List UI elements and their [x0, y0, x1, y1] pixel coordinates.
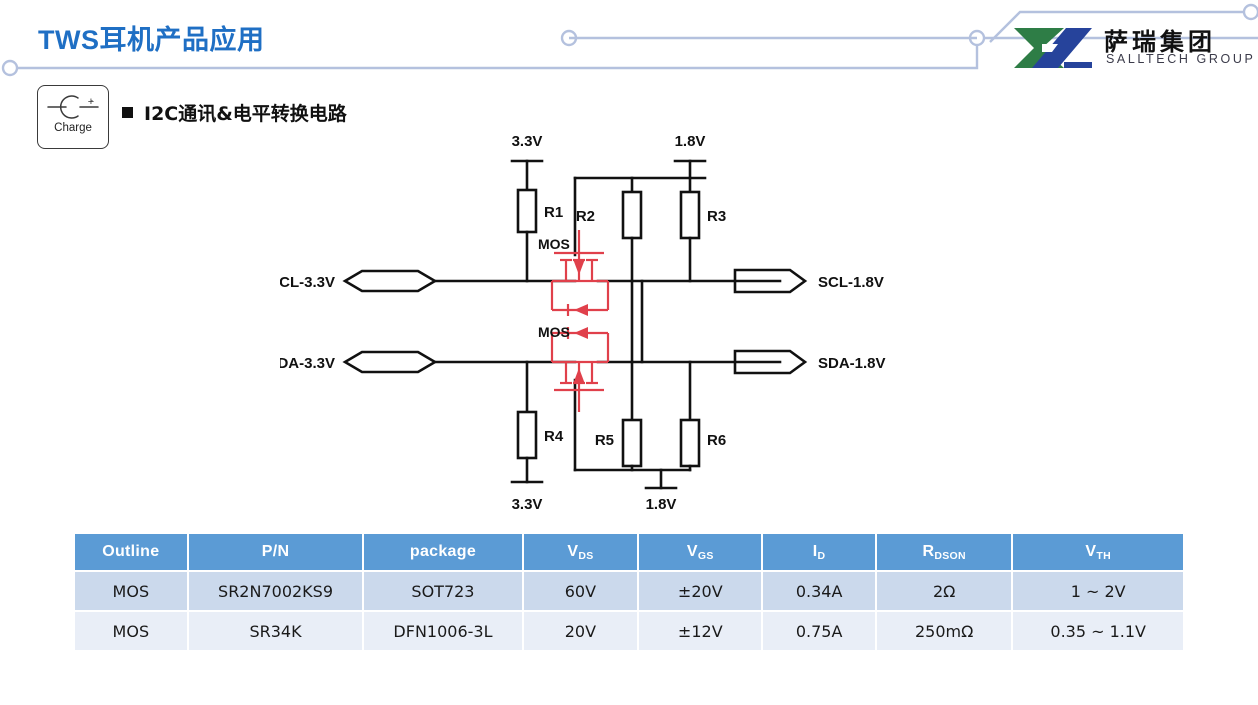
resistor-r4 [518, 412, 536, 458]
cell-id: 0.34A [763, 572, 875, 610]
label-mos-scl: MOS [538, 236, 570, 252]
label-mos-sda: MOS [538, 324, 570, 340]
slide-root: TWS耳机产品应用 萨瑞集团 SALLTECH GROUP + Charge I… [0, 0, 1258, 705]
label-rail-bottom-right: 1.8V [646, 496, 677, 513]
spec-table: Outline P/N package VDS VGS ID RDSON VTH… [73, 532, 1185, 652]
label-r4: R4 [544, 428, 564, 445]
col-header-vds: VDS [524, 534, 638, 570]
col-header-vgs-sub: GS [698, 550, 714, 562]
salltech-logo-icon [1008, 26, 1096, 70]
col-header-vth: VTH [1013, 534, 1183, 570]
col-header-vth-label: V [1085, 543, 1096, 560]
cell-pn: SR2N7002KS9 [189, 572, 363, 610]
cell-package: SOT723 [364, 572, 521, 610]
circuit-diagram: 3.3V 1.8V 3.3V 1.8V R1 R2 R3 R4 R5 R6 MO… [280, 130, 920, 520]
label-r3: R3 [707, 208, 726, 225]
col-header-id-sub: D [818, 550, 826, 562]
tag-scl-3v3 [345, 271, 435, 291]
col-header-outline-label: Outline [102, 543, 159, 560]
square-bullet-icon [122, 107, 133, 118]
table-header-row: Outline P/N package VDS VGS ID RDSON VTH [75, 534, 1183, 570]
label-rail-top-right: 1.8V [675, 133, 706, 150]
label-rail-top-left: 3.3V [512, 133, 543, 150]
col-header-vgs: VGS [639, 534, 761, 570]
label-sda-1v8: SDA-1.8V [818, 355, 886, 372]
cell-vgs: ±12V [639, 612, 761, 650]
deco-circle-left [3, 61, 17, 75]
brand-logo: 萨瑞集团 SALLTECH GROUP [1008, 24, 1246, 72]
cell-package: DFN1006-3L [364, 612, 521, 650]
page-title: TWS耳机产品应用 [38, 18, 265, 57]
cell-vth: 1 ~ 2V [1013, 572, 1183, 610]
col-header-id-label: I [813, 543, 818, 560]
col-header-vds-label: V [567, 543, 578, 560]
mosfet-scl-arrows [573, 259, 588, 316]
col-header-pn: P/N [189, 534, 363, 570]
col-header-outline: Outline [75, 534, 187, 570]
cell-id: 0.75A [763, 612, 875, 650]
label-scl-1v8: SCL-1.8V [818, 274, 884, 291]
col-header-vds-sub: DS [578, 550, 593, 562]
label-r1: R1 [544, 204, 563, 221]
resistor-r2 [623, 192, 641, 238]
resistor-r1 [518, 190, 536, 232]
charge-badge-caption: Charge [38, 122, 108, 134]
col-header-id: ID [763, 534, 875, 570]
resistor-r6 [681, 420, 699, 466]
battery-charge-icon: + [42, 92, 104, 122]
charge-badge: + Charge [37, 85, 109, 149]
cell-outline: MOS [75, 612, 187, 650]
label-sda-3v3: SDA-3.3V [280, 355, 335, 372]
resistor-r5 [623, 420, 641, 466]
label-r6: R6 [707, 432, 726, 449]
cell-pn: SR34K [189, 612, 363, 650]
logo-english-name: SALLTECH GROUP [1106, 52, 1255, 66]
col-header-rdson-label: R [922, 543, 934, 560]
label-r2: R2 [576, 208, 595, 225]
table-row: MOS SR34K DFN1006-3L 20V ±12V 0.75A 250m… [75, 612, 1183, 650]
col-header-vth-sub: TH [1096, 550, 1111, 562]
col-header-vgs-label: V [687, 543, 698, 560]
cell-vth: 0.35 ~ 1.1V [1013, 612, 1183, 650]
col-header-package: package [364, 534, 521, 570]
section-title: I2C通讯&电平转换电路 [144, 99, 347, 126]
tag-sda-3v3 [345, 352, 435, 372]
svg-text:+: + [88, 96, 94, 108]
cell-outline: MOS [75, 572, 187, 610]
col-header-rdson-sub: DSON [934, 550, 966, 562]
label-scl-3v3: SCL-3.3V [280, 274, 335, 291]
label-r5: R5 [595, 432, 614, 449]
col-header-pn-label: P/N [262, 543, 290, 560]
col-header-rdson: RDSON [877, 534, 1011, 570]
resistor-r3 [681, 192, 699, 238]
deco-circle-corner [1244, 5, 1258, 19]
mosfet-sda-arrows [573, 327, 588, 384]
cell-rdson: 250mΩ [877, 612, 1011, 650]
label-rail-bottom-left: 3.3V [512, 496, 543, 513]
cell-vgs: ±20V [639, 572, 761, 610]
col-header-package-label: package [410, 543, 476, 560]
cell-rdson: 2Ω [877, 572, 1011, 610]
cell-vds: 60V [524, 572, 638, 610]
cell-vds: 20V [524, 612, 638, 650]
table-row: MOS SR2N7002KS9 SOT723 60V ±20V 0.34A 2Ω… [75, 572, 1183, 610]
